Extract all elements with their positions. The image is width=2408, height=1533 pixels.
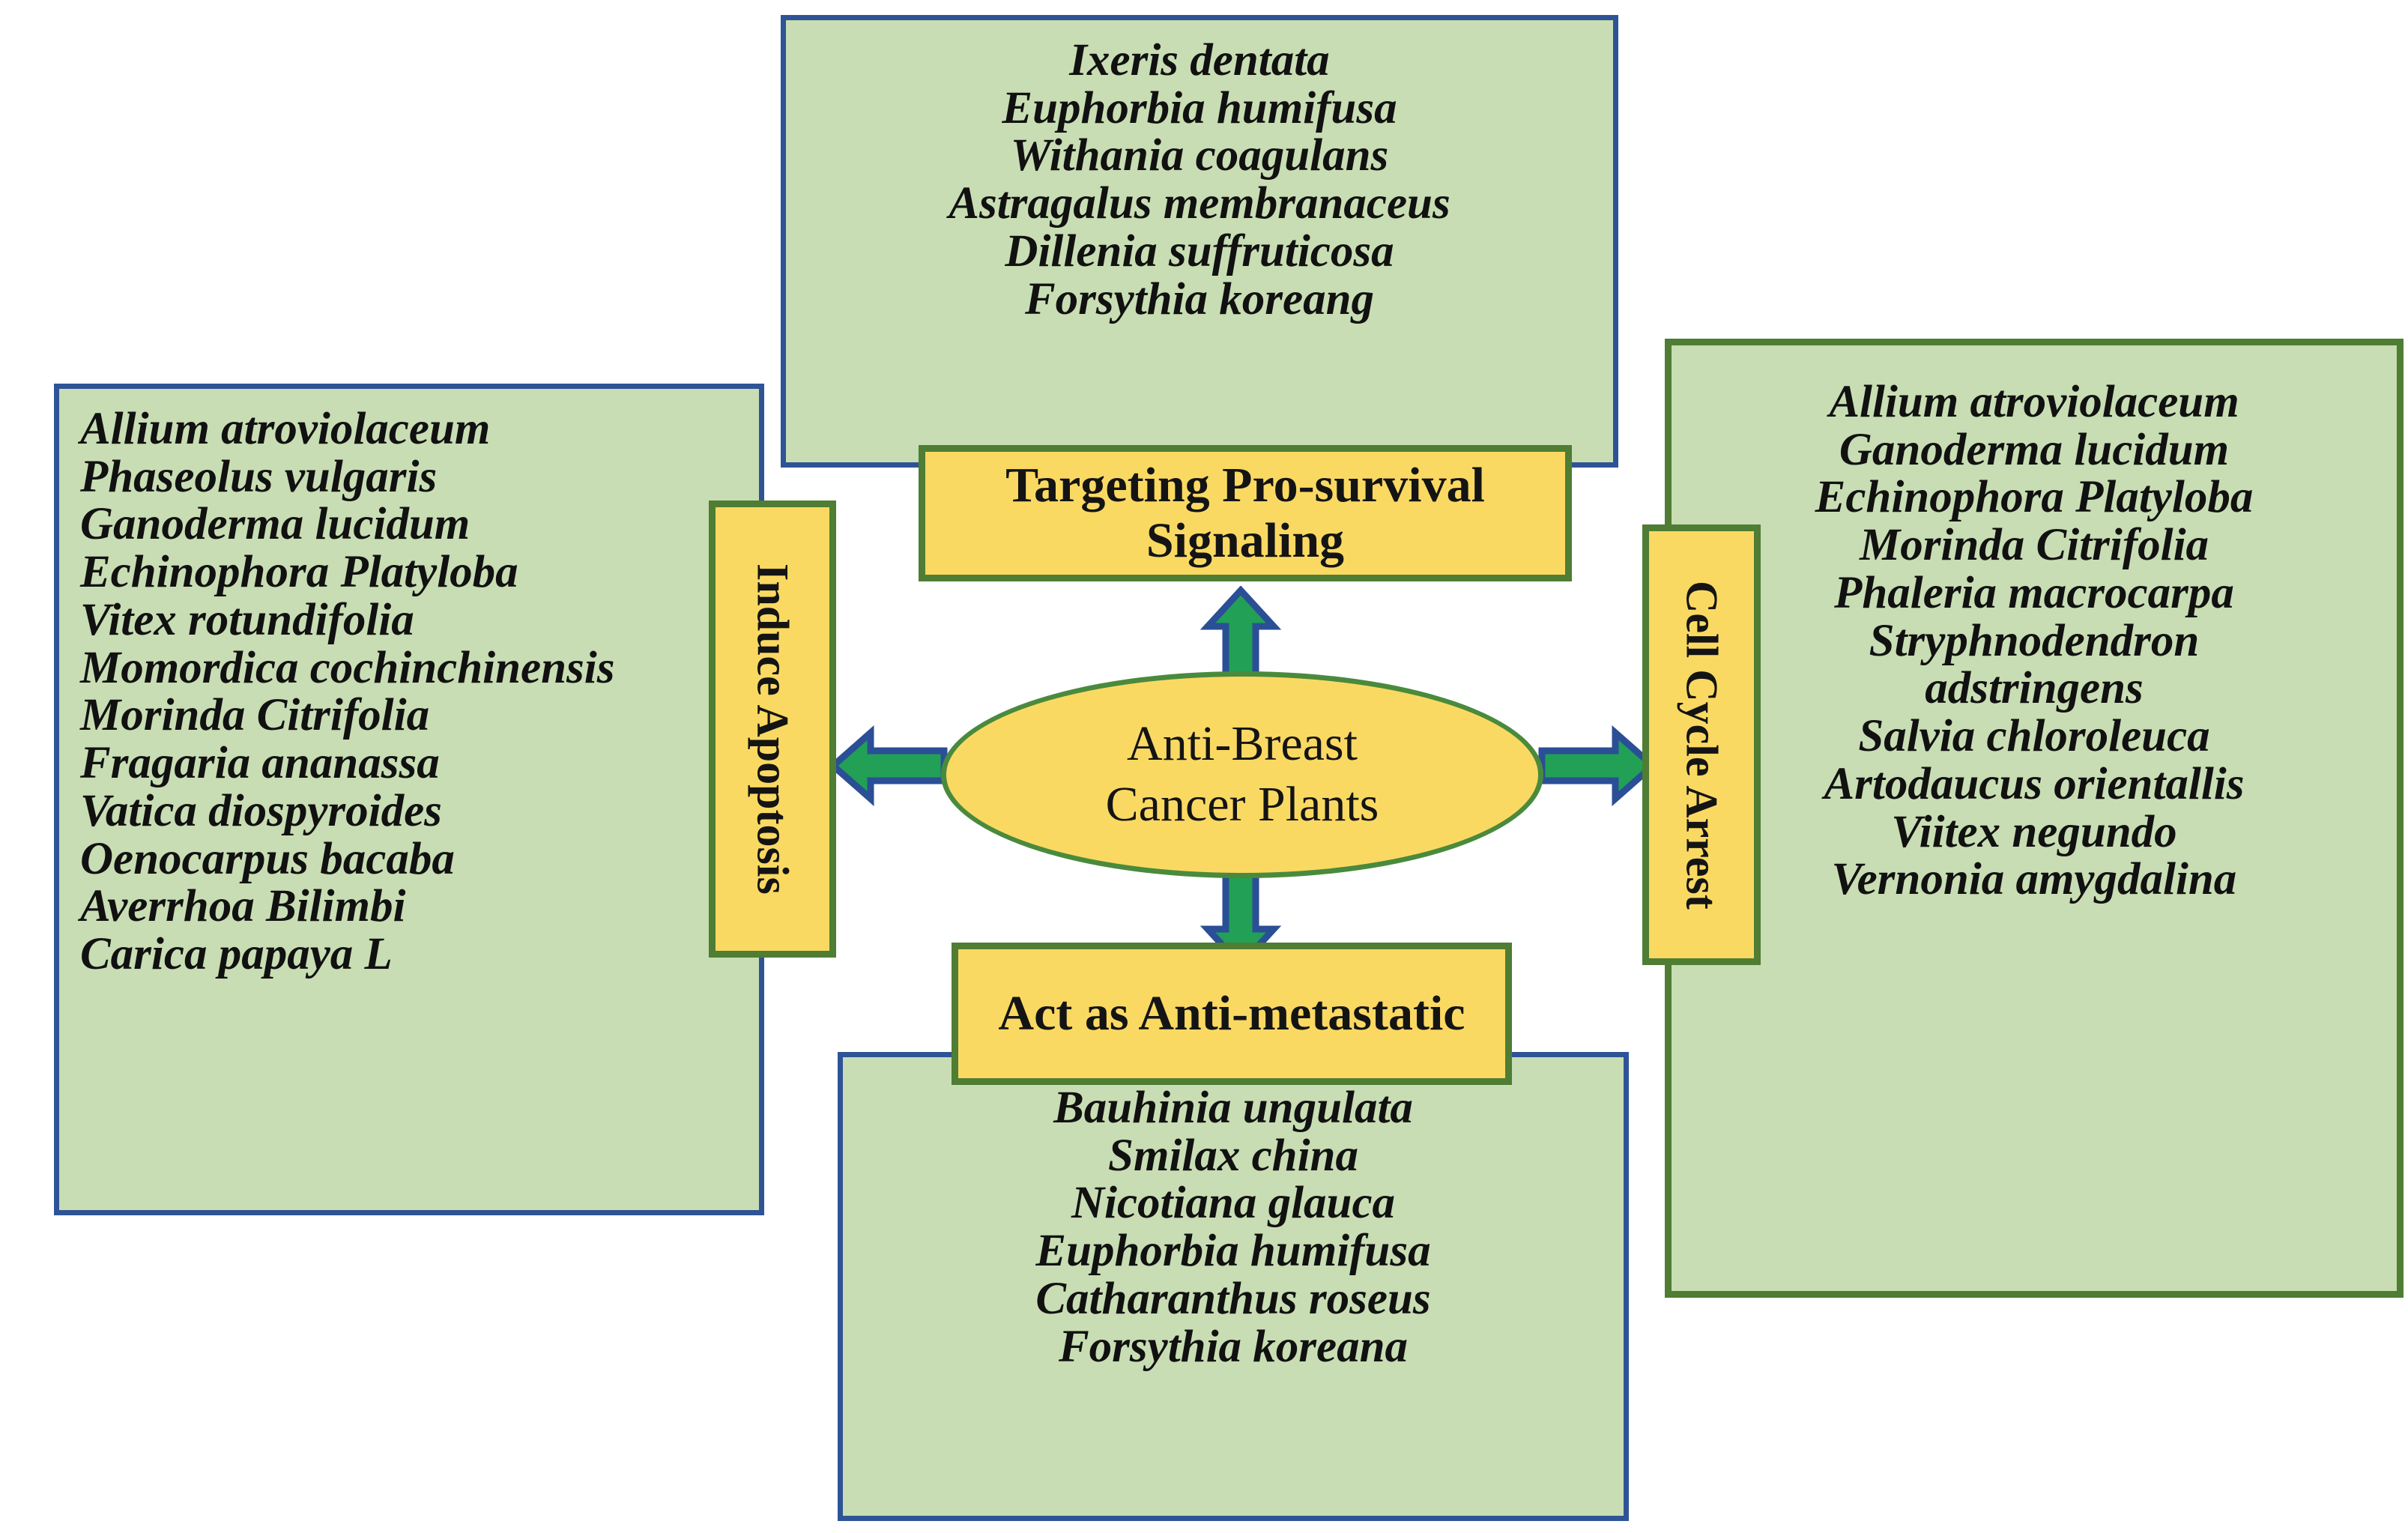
- plant-name: Forsythia koreana: [865, 1323, 1601, 1371]
- plant-name: adstringens: [1694, 665, 2374, 713]
- plant-name: Vernonia amygdalina: [1694, 856, 2374, 904]
- panel-cell-cycle-arrest-plants: Allium atroviolaceum Ganoderma lucidum E…: [1665, 339, 2404, 1298]
- plant-name: Fragaria ananassa: [80, 740, 759, 787]
- plant-name: Ixeris dentata: [808, 37, 1591, 85]
- center-node-line-2: Cancer Plants: [1106, 775, 1379, 835]
- plant-name: Oenocarpus bacaba: [80, 835, 759, 883]
- center-node-line-1: Anti-Breast: [1127, 714, 1358, 775]
- plant-name: Salvia chloroleuca: [1694, 713, 2374, 761]
- center-node-anti-breast-cancer-plants[interactable]: Anti-Breast Cancer Plants: [941, 671, 1543, 878]
- plant-name: Astragalus membranaceus: [808, 180, 1591, 228]
- plant-name: Stryphnodendron: [1694, 617, 2374, 665]
- plant-name: Echinophora Platyloba: [80, 548, 759, 596]
- arrow-right-icon: [1537, 722, 1657, 809]
- plant-name: Dillenia suffruticosa: [808, 228, 1591, 276]
- label-cell-cycle-arrest[interactable]: Cell Cycle Arrest: [1642, 524, 1761, 965]
- panel-anti-metastatic-plants: Bauhinia ungulata Smilax china Nicotiana…: [838, 1052, 1629, 1521]
- label-text: Cell Cycle Arrest: [1676, 581, 1726, 910]
- label-text: Induce Apoptosis: [747, 563, 797, 895]
- plant-name: Euphorbia humifusa: [865, 1227, 1601, 1275]
- label-text: Act as Anti-metastatic: [998, 986, 1465, 1041]
- plant-name: Viitex negundo: [1694, 808, 2374, 856]
- plant-name: Forsythia koreang: [808, 276, 1591, 324]
- plant-name: Morinda Citrifolia: [1694, 521, 2374, 569]
- plant-name: Withania coagulans: [808, 132, 1591, 180]
- plant-name: Bauhinia ungulata: [865, 1084, 1601, 1132]
- arrow-left-icon: [829, 722, 949, 809]
- diagram-canvas: Allium atroviolaceum Phaseolus vulgaris …: [0, 0, 2408, 1533]
- label-line-2: Signaling: [1005, 513, 1485, 569]
- plant-name: Artodaucus orientallis: [1694, 761, 2374, 808]
- plant-name: Phaleria macrocarpa: [1694, 569, 2374, 617]
- plant-name: Averrhoa Bilimbi: [80, 883, 759, 931]
- plant-name: Momordica cochinchinensis: [80, 644, 759, 692]
- plant-name: Allium atroviolaceum: [1694, 378, 2374, 426]
- label-targeting-pro-survival-signaling[interactable]: Targeting Pro-survival Signaling: [919, 445, 1572, 581]
- plant-name: Echinophora Platyloba: [1694, 474, 2374, 521]
- plant-name: Ganoderma lucidum: [1694, 426, 2374, 474]
- panel-pro-survival-signaling-plants: Ixeris dentata Euphorbia humifusa Withan…: [781, 15, 1618, 468]
- plant-name: Catharanthus roseus: [865, 1275, 1601, 1323]
- plant-name: Phaseolus vulgaris: [80, 453, 759, 501]
- plant-name: Smilax china: [865, 1132, 1601, 1180]
- plant-name: Carica papaya L: [80, 931, 759, 979]
- panel-induce-apoptosis-plants: Allium atroviolaceum Phaseolus vulgaris …: [54, 384, 764, 1215]
- label-induce-apoptosis[interactable]: Induce Apoptosis: [709, 501, 836, 958]
- label-line-1: Targeting Pro-survival: [1005, 458, 1485, 513]
- plant-name: Allium atroviolaceum: [80, 405, 759, 453]
- plant-name: Morinda Citrifolia: [80, 692, 759, 740]
- plant-name: Ganoderma lucidum: [80, 501, 759, 548]
- plant-name: Euphorbia humifusa: [808, 85, 1591, 133]
- plant-name: Vatica diospyroides: [80, 787, 759, 835]
- label-act-as-anti-metastatic[interactable]: Act as Anti-metastatic: [952, 943, 1512, 1085]
- plant-name: Nicotiana glauca: [865, 1179, 1601, 1227]
- plant-name: Vitex rotundifolia: [80, 596, 759, 644]
